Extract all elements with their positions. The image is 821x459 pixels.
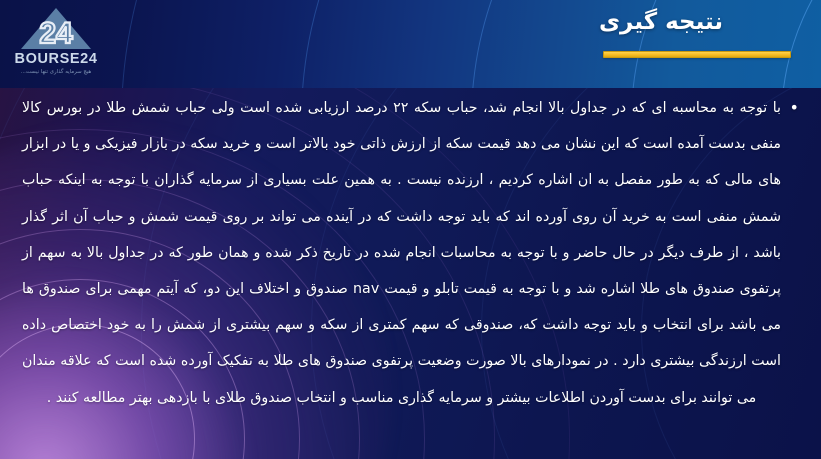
bourse24-triangle-logo-icon: 24 <box>19 6 93 50</box>
logo-tagline: هیچ سرمایه گذاری تنها نیست... <box>12 70 100 75</box>
slide-title: نتیجه گیری <box>531 8 791 37</box>
svg-text:24: 24 <box>39 17 73 50</box>
logo-wordmark: BOURSE24 <box>12 52 100 67</box>
brand-logo[interactable]: 24 BOURSE24 هیچ سرمایه گذاری تنها نیست..… <box>12 6 100 80</box>
body-paragraph: با توجه به محاسبه ای که در جداول بالا ان… <box>22 90 799 416</box>
slide-canvas: 24 BOURSE24 هیچ سرمایه گذاری تنها نیست..… <box>0 0 821 459</box>
title-underline-bar <box>603 51 791 58</box>
title-block: نتیجه گیری <box>531 8 791 58</box>
slide-content: با توجه به محاسبه ای که در جداول بالا ان… <box>22 90 799 416</box>
